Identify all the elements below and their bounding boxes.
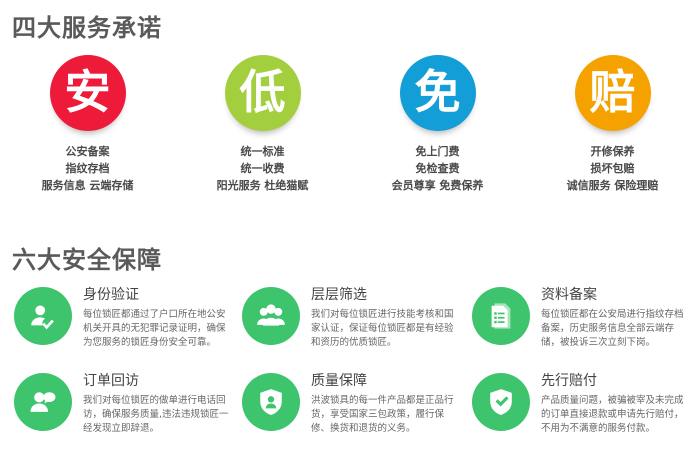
guarantee-title: 资料备案: [541, 286, 689, 304]
guarantee-item-quality[interactable]: 质量保障 洪波锁具的每一件产品都是正品行货，享受国家三包政策，履行保修、换货和退…: [230, 371, 460, 457]
promise-badge-char: 赔: [590, 69, 636, 115]
guarantee-text: 资料备案 每位锁匠都在公安局进行指纹存档备案，历史服务信息全部云端存储，被投诉三…: [541, 285, 689, 371]
promise-badge-low-price: 低: [225, 55, 301, 131]
shield-check-icon: [472, 373, 530, 431]
document-list-icon: [472, 287, 530, 345]
guarantee-desc: 我们对每位锁匠的做单进行电话回访，确保服务质量,违法违规锁匠一经发现立即辞退。: [83, 394, 231, 436]
promise-line: 开修保养: [567, 143, 659, 160]
promise-line: 统一收费: [217, 160, 309, 177]
promise-line: 会员尊享 免费保养: [392, 177, 484, 194]
promise-item-compensation[interactable]: 赔 开修保养 损坏包赔 诚信服务 保险理赔: [525, 55, 700, 215]
promise-caption: 统一标准 统一收费 阳光服务 杜绝猫赋: [217, 143, 309, 194]
promise-line: 公安备案: [42, 143, 134, 160]
promise-row: 安 公安备案 指纹存档 服务信息 云端存储 低 统一标准 统一收费 阳光服务 杜…: [0, 55, 700, 215]
promise-line: 免上门费: [392, 143, 484, 160]
promise-badge-compensation: 赔: [575, 55, 651, 131]
promise-line: 指纹存档: [42, 160, 134, 177]
promise-badge-char: 免: [415, 69, 461, 115]
users-group-icon: [242, 287, 300, 345]
promise-item-safety[interactable]: 安 公安备案 指纹存档 服务信息 云端存储: [0, 55, 175, 215]
promise-line: 阳光服务 杜绝猫赋: [217, 177, 309, 194]
promise-item-low-price[interactable]: 低 统一标准 统一收费 阳光服务 杜绝猫赋: [175, 55, 350, 215]
user-check-icon: [14, 287, 72, 345]
guarantee-desc: 每位锁匠都在公安局进行指纹存档备案，历史服务信息全部云端存储，被投诉三次立刻下岗…: [541, 308, 689, 350]
guarantee-text: 订单回访 我们对每位锁匠的做单进行电话回访，确保服务质量,违法违规锁匠一经发现立…: [83, 371, 231, 457]
guarantee-title: 质量保障: [311, 372, 459, 390]
guarantee-grid: 身份验证 每位锁匠都通过了户口所在地公安机关开具的无犯罪记录证明，确保为您服务的…: [0, 285, 700, 457]
promise-caption: 公安备案 指纹存档 服务信息 云端存储: [42, 143, 134, 194]
promise-caption: 开修保养 损坏包赔 诚信服务 保险理赔: [567, 143, 659, 194]
guarantee-desc: 我们对每位锁匠进行技能考核和国家认证，保证每位锁匠都是有经验和资历的优质锁匠。: [311, 308, 459, 350]
guarantee-desc: 每位锁匠都通过了户口所在地公安机关开具的无犯罪记录证明，确保为您服务的锁匠身份安…: [83, 308, 231, 350]
promise-line: 服务信息 云端存储: [42, 177, 134, 194]
promise-item-free[interactable]: 免 免上门费 免检查费 会员尊享 免费保养: [350, 55, 525, 215]
guarantee-desc: 洪波锁具的每一件产品都是正品行货，享受国家三包政策，履行保修、换货和退货的义务。: [311, 394, 459, 436]
promise-badge-safety: 安: [50, 55, 126, 131]
user-speech-icon: [14, 373, 72, 431]
promise-badge-char: 安: [65, 69, 111, 115]
guarantee-text: 质量保障 洪波锁具的每一件产品都是正品行货，享受国家三包政策，履行保修、换货和退…: [311, 371, 459, 457]
shield-user-icon: [242, 373, 300, 431]
guarantee-title: 订单回访: [83, 372, 231, 390]
guarantee-item-prepayment[interactable]: 先行赔付 产品质量问题，被骗被宰及未完成的订单直接退款或申请先行赔付，不用为不满…: [460, 371, 690, 457]
guarantee-title: 层层筛选: [311, 286, 459, 304]
promise-line: 统一标准: [217, 143, 309, 160]
page-title-six-guarantees: 六大安全保障: [12, 240, 162, 275]
guarantee-item-screening[interactable]: 层层筛选 我们对每位锁匠进行技能考核和国家认证，保证每位锁匠都是有经验和资历的优…: [230, 285, 460, 371]
guarantee-item-identity[interactable]: 身份验证 每位锁匠都通过了户口所在地公安机关开具的无犯罪记录证明，确保为您服务的…: [0, 285, 230, 371]
guarantee-title: 身份验证: [83, 286, 231, 304]
promise-badge-char: 低: [240, 69, 286, 115]
guarantee-desc: 产品质量问题，被骗被宰及未完成的订单直接退款或申请先行赔付，不用为不满意的服务付…: [541, 394, 689, 436]
guarantee-text: 先行赔付 产品质量问题，被骗被宰及未完成的订单直接退款或申请先行赔付，不用为不满…: [541, 371, 689, 457]
guarantee-item-record[interactable]: 资料备案 每位锁匠都在公安局进行指纹存档备案，历史服务信息全部云端存储，被投诉三…: [460, 285, 690, 371]
promise-line: 免检查费: [392, 160, 484, 177]
promise-line: 诚信服务 保险理赔: [567, 177, 659, 194]
promise-line: 损坏包赔: [567, 160, 659, 177]
page-title-four-promises: 四大服务承诺: [12, 8, 162, 43]
guarantee-title: 先行赔付: [541, 372, 689, 390]
guarantee-item-callback[interactable]: 订单回访 我们对每位锁匠的做单进行电话回访，确保服务质量,违法违规锁匠一经发现立…: [0, 371, 230, 457]
guarantee-text: 身份验证 每位锁匠都通过了户口所在地公安机关开具的无犯罪记录证明，确保为您服务的…: [83, 285, 231, 371]
guarantee-text: 层层筛选 我们对每位锁匠进行技能考核和国家认证，保证每位锁匠都是有经验和资历的优…: [311, 285, 459, 371]
promise-badge-free: 免: [400, 55, 476, 131]
promise-caption: 免上门费 免检查费 会员尊享 免费保养: [392, 143, 484, 194]
